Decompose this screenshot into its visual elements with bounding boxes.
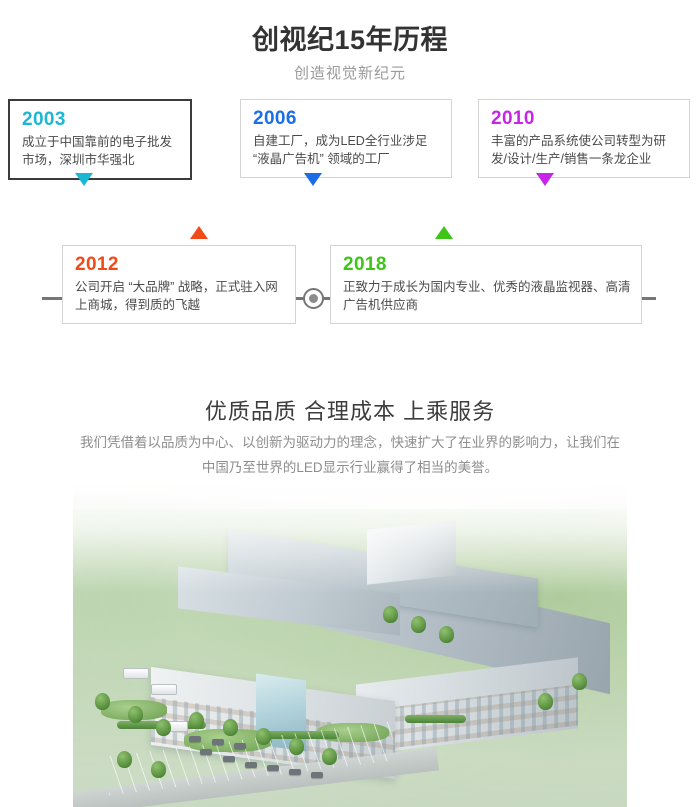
promo-page: 创视纪15年历程 创造视觉新纪元 2003 成立于中国靠前的电子批发市场，深圳市… [0,0,700,807]
timeline-card-2006[interactable]: 2006 自建工厂，成为LED全行业涉足 “液晶广告机” 领域的工厂 [240,99,452,178]
timeline-year-2003: 2003 [22,109,180,131]
timeline-card-2010[interactable]: 2010 丰富的产品系统使公司转型为研发/设计/生产/销售一条龙企业 [478,99,690,178]
image-tree [223,719,238,736]
image-car [223,756,235,762]
timeline-arrow-down-icon-2010 [536,173,554,186]
image-car [189,736,201,742]
image-car [212,739,224,745]
image-tree [151,761,166,778]
image-hedge-3 [405,715,466,723]
image-car [200,749,212,755]
timeline-arrow-up-icon-2012 [190,226,208,239]
image-tree [383,606,398,623]
image-tree [289,738,304,755]
image-tree [572,673,587,690]
timeline-text-2003: 成立于中国靠前的电子批发市场，深圳市华强北 [22,133,180,169]
timeline-text-2006: 自建工厂，成为LED全行业涉足 “液晶广告机” 领域的工厂 [253,132,441,168]
quality-section-title: 优质品质 合理成本 上乘服务 [0,394,700,426]
image-truck-2 [151,684,177,695]
timeline-arrow-down-icon-2006 [304,173,322,186]
quality-section-paragraph: 我们凭借着以品质为中心、以创新为驱动力的理念，快速扩大了在业界的影响力，让我们在… [80,430,620,480]
image-tree [256,728,271,745]
image-car [234,743,246,749]
image-car [311,772,323,778]
timeline-text-2018: 正致力于成长为国内专业、优秀的液晶监视器、高清广告机供应商 [343,278,631,314]
timeline-arrow-down-icon-2003 [75,173,93,186]
timeline-year-2006: 2006 [253,108,441,130]
image-car [289,769,301,775]
image-car [267,765,279,771]
image-tree [156,719,171,736]
timeline-year-2012: 2012 [75,254,285,276]
timeline-card-2003[interactable]: 2003 成立于中国靠前的电子批发市场，深圳市华强北 [8,99,192,180]
image-tree [117,751,132,768]
image-tree [128,706,143,723]
timeline-year-2018: 2018 [343,254,631,276]
image-haze-overlay [73,483,627,593]
timeline-card-2018[interactable]: 2018 正致力于成长为国内专业、优秀的液晶监视器、高清广告机供应商 [330,245,642,324]
image-tree [538,693,553,710]
timeline-card-2012[interactable]: 2012 公司开启 “大品牌” 战略，正式驻入网上商城，得到质的飞越 [62,245,296,324]
image-tree [189,712,204,729]
page-subtitle: 创造视觉新纪元 [0,62,700,83]
image-truck-1 [123,668,149,679]
timeline-arrow-up-icon-2018 [435,226,453,239]
timeline-year-2010: 2010 [491,108,679,130]
factory-aerial-image [73,483,627,807]
page-title: 创视纪15年历程 [0,18,700,57]
image-car [245,762,257,768]
timeline-node-3 [303,288,324,309]
image-tree [439,626,454,643]
company-timeline: 2003 成立于中国靠前的电子批发市场，深圳市华强北 2006 自建工厂，成为L… [0,95,700,330]
image-tree [322,748,337,765]
timeline-text-2010: 丰富的产品系统使公司转型为研发/设计/生产/销售一条龙企业 [491,132,679,168]
timeline-text-2012: 公司开启 “大品牌” 战略，正式驻入网上商城，得到质的飞越 [75,278,285,314]
image-tree [95,693,110,710]
image-tree [411,616,426,633]
